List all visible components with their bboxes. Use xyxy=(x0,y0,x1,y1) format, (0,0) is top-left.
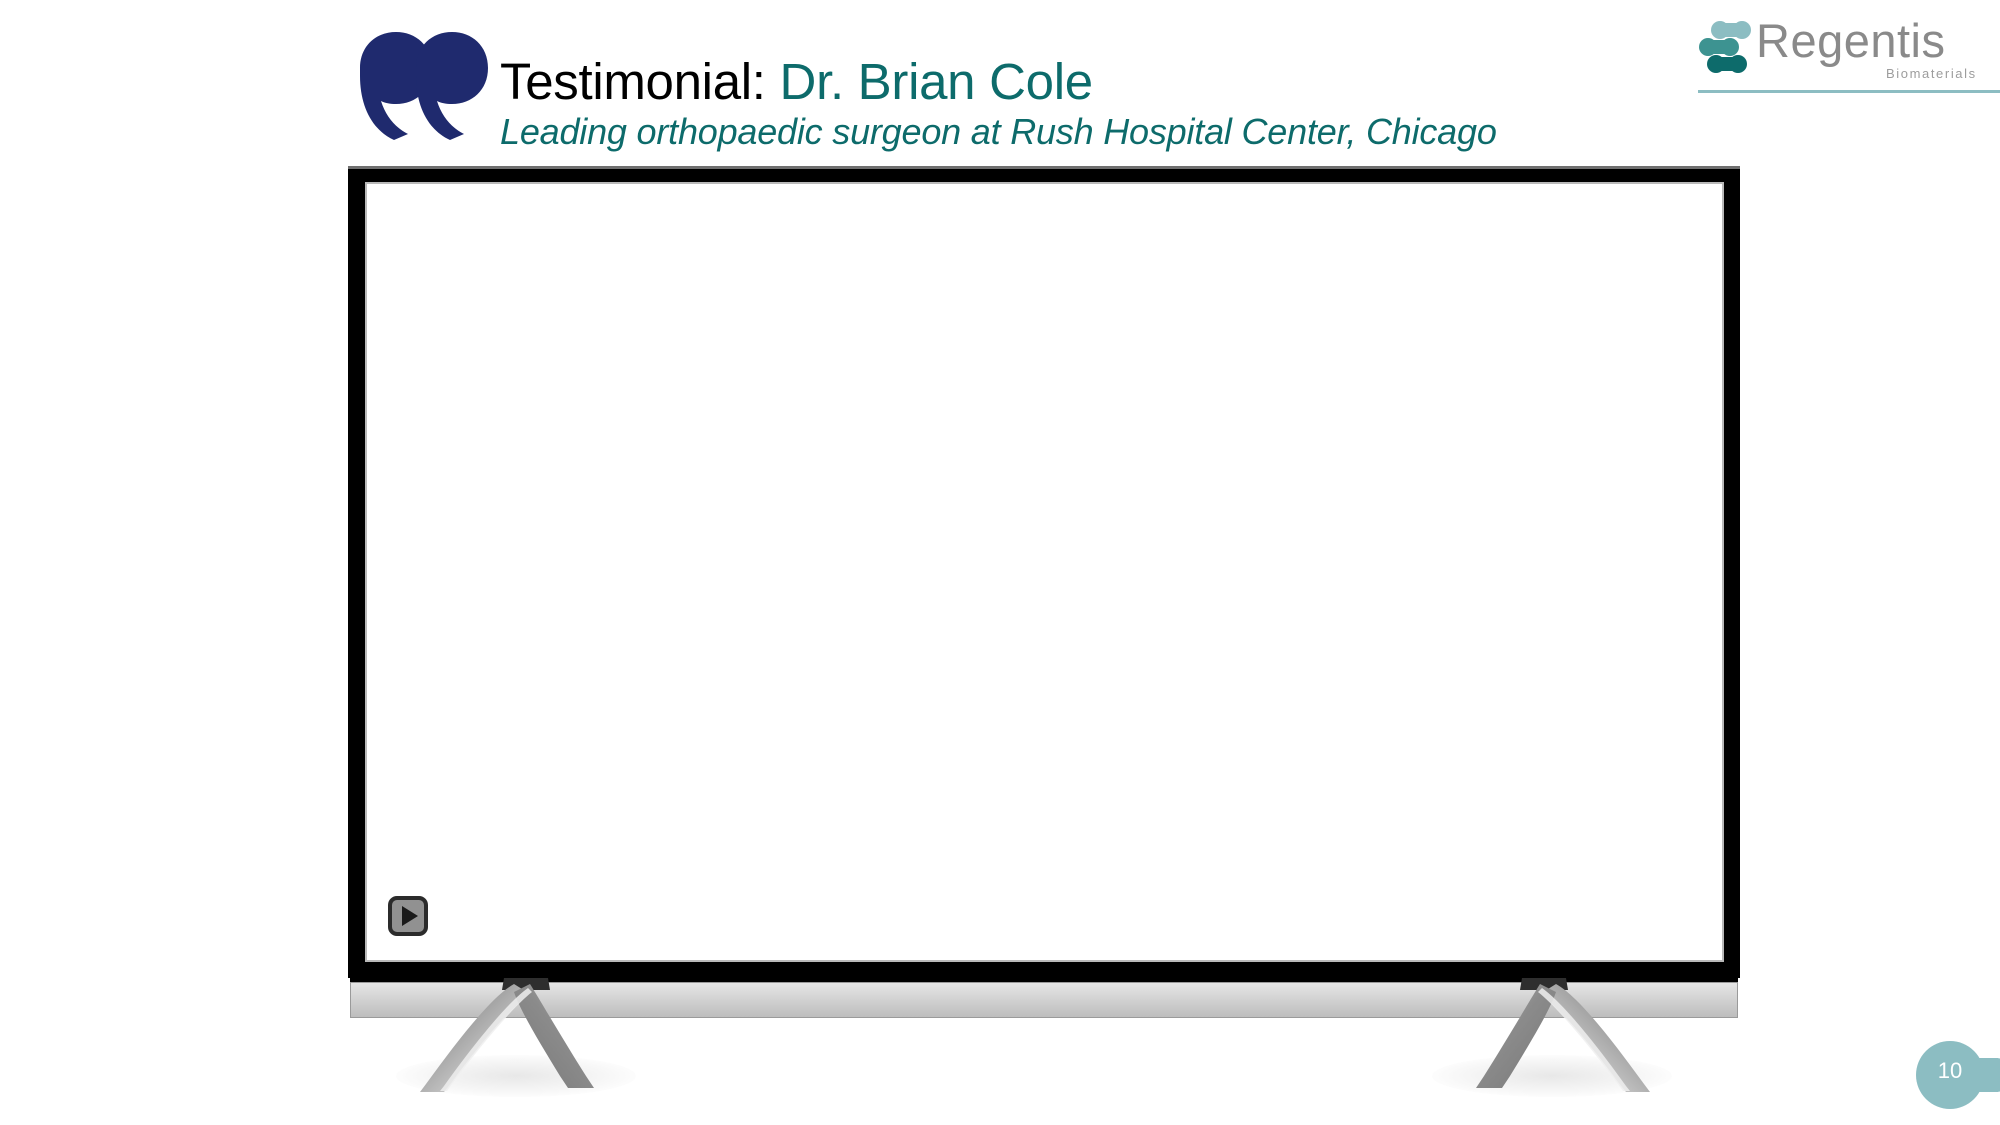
tv-stand-leg-right xyxy=(1452,978,1652,1098)
play-triangle-icon xyxy=(402,906,418,926)
page-number-text: 10 xyxy=(1916,1060,1984,1082)
regentis-molecule-icon xyxy=(1698,20,1754,74)
title-static-text: Testimonial: xyxy=(500,53,766,110)
title-person-name: Dr. Brian Cole xyxy=(780,53,1093,110)
page-subtitle: Leading orthopaedic surgeon at Rush Hosp… xyxy=(500,114,1497,150)
slide-header: Testimonial: Dr. Brian Cole Leading orth… xyxy=(350,30,1670,140)
page-number-badge: 10 xyxy=(1916,1040,2000,1110)
page-title: Testimonial: Dr. Brian Cole xyxy=(500,56,1093,107)
logo-wordmark: Regentis xyxy=(1756,14,1946,68)
tv-bezel-highlight xyxy=(348,166,1740,169)
quotation-mark-icon xyxy=(350,24,490,144)
logo-tagline: Biomaterials xyxy=(1886,66,1977,81)
brand-logo: Regentis Biomaterials xyxy=(1698,14,1988,100)
video-player-screen[interactable] xyxy=(367,184,1722,960)
tv-screen-frame xyxy=(365,182,1724,962)
play-video-button[interactable] xyxy=(388,896,428,936)
tv-stand-leg-left xyxy=(418,978,618,1098)
slide-canvas: Testimonial: Dr. Brian Cole Leading orth… xyxy=(0,0,2000,1125)
television-mockup xyxy=(348,168,1740,978)
logo-divider-rule xyxy=(1698,90,2000,93)
